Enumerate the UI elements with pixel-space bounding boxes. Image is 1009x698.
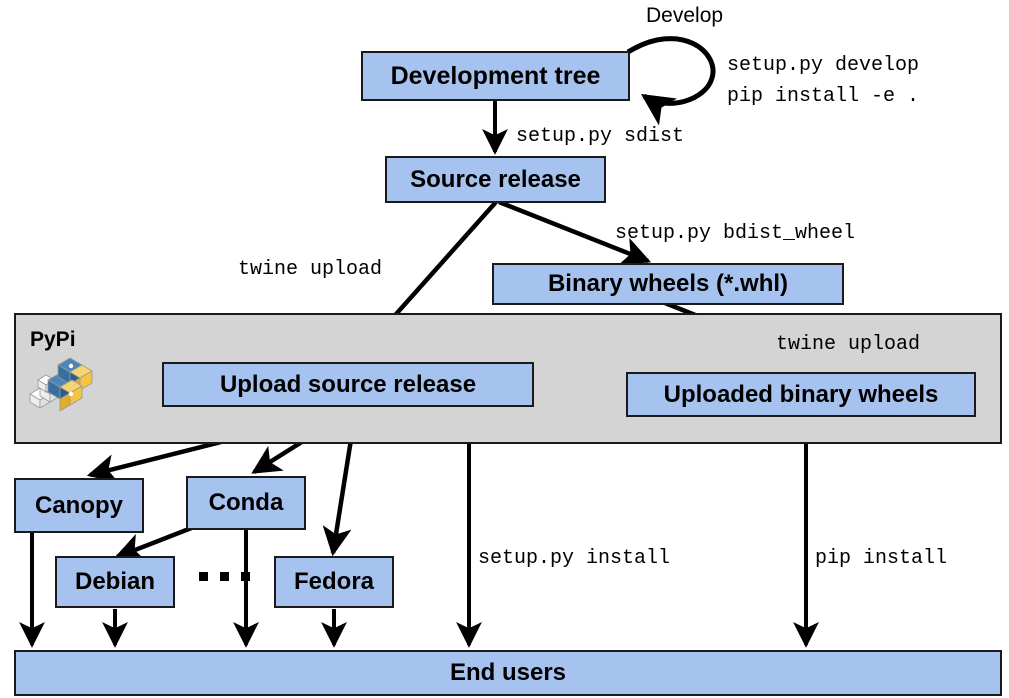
ellipsis-dot (241, 572, 250, 581)
node-upload-source-release[interactable]: Upload source release (162, 362, 534, 407)
label-setup-sdist: setup.py sdist (516, 123, 684, 150)
label-twine-upload-source: twine upload (238, 256, 382, 283)
node-development-tree[interactable]: Development tree (361, 51, 630, 101)
ellipsis-dots (199, 572, 250, 581)
label-twine-upload-binary: twine upload (776, 331, 920, 358)
node-canopy[interactable]: Canopy (14, 478, 144, 533)
node-debian[interactable]: Debian (55, 556, 175, 608)
pypi-group-label: PyPi (30, 328, 76, 352)
label-develop-command-develop: setup.py develop (727, 52, 919, 79)
label-pip-install: pip install (815, 545, 947, 572)
ellipsis-dot (199, 572, 208, 581)
node-source-release[interactable]: Source release (385, 156, 606, 203)
label-develop: Develop (646, 4, 723, 28)
label-develop-command-pip-editable: pip install -e . (727, 83, 919, 110)
diagram-canvas: PyPi (0, 0, 1009, 698)
ellipsis-dot (220, 572, 229, 581)
python-cubes-icon (26, 356, 94, 414)
node-end-users[interactable]: End users (14, 650, 1002, 696)
node-conda[interactable]: Conda (186, 476, 306, 530)
label-setup-py-install: setup.py install (478, 545, 670, 572)
edge-develop-selfloop (628, 39, 713, 104)
node-uploaded-binary-wheels[interactable]: Uploaded binary wheels (626, 372, 976, 417)
node-fedora[interactable]: Fedora (274, 556, 394, 608)
node-binary-wheels[interactable]: Binary wheels (*.whl) (492, 263, 844, 305)
label-setup-bdist-wheel: setup.py bdist_wheel (615, 220, 855, 247)
